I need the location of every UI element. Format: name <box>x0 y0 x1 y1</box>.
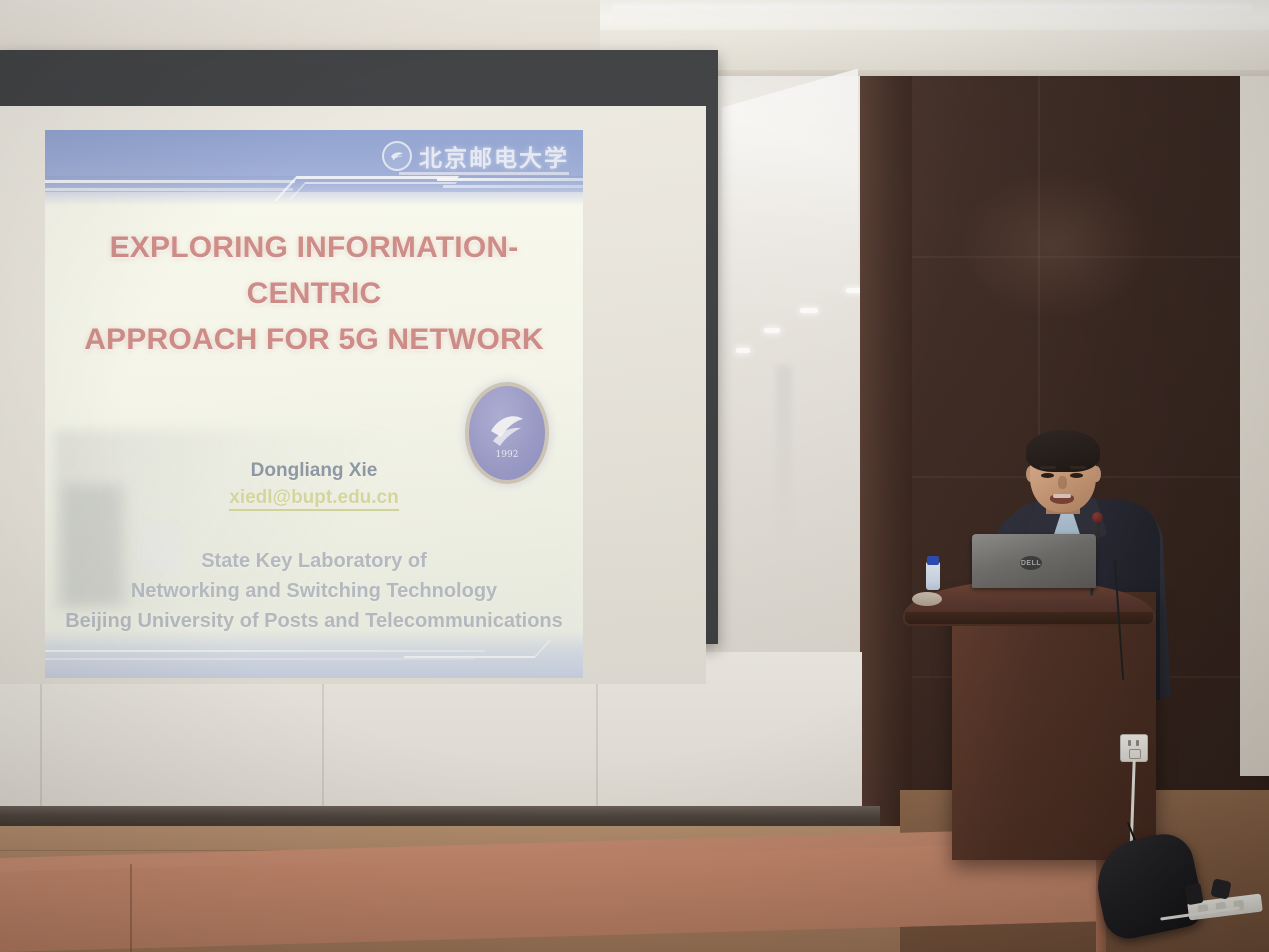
cove-light <box>612 4 1252 20</box>
svg-text:1992: 1992 <box>496 450 519 460</box>
bupt-emblem-icon <box>382 141 412 171</box>
presenter-nose <box>1058 476 1067 489</box>
wall-sheen <box>722 69 858 328</box>
presenter-eye-left <box>1041 473 1054 478</box>
wood-light-glow <box>960 170 1150 320</box>
bupt-wordmark: 北京邮电大学 <box>382 138 569 174</box>
podium-emblem <box>912 592 942 606</box>
dell-logo-icon: DELL <box>1020 556 1042 570</box>
header-deco-line-1 <box>45 180 295 183</box>
podium-body <box>952 592 1156 860</box>
plug-1 <box>1184 883 1203 905</box>
header-step-motif-2 <box>289 182 457 200</box>
header-deco-line-2 <box>45 188 293 191</box>
wall-vertical-reflection <box>776 366 792 546</box>
glossy-wall-panel <box>718 76 860 682</box>
socket-slot-1 <box>1128 740 1131 746</box>
socket-outline <box>1129 749 1141 759</box>
podium-front-lip <box>905 612 1153 624</box>
footer-deco-line-2 <box>45 658 475 660</box>
presenter-brow-right <box>1070 466 1086 469</box>
water-bottle <box>926 562 940 590</box>
downlight-reflection-3 <box>800 308 818 313</box>
presentation-photo: 北京邮电大学 EXPLORING INFORMATION-CENTRIC APP… <box>0 0 1269 952</box>
presenter-hair <box>1026 430 1100 472</box>
microphone-head-icon <box>1092 512 1103 523</box>
slide-title: EXPLORING INFORMATION-CENTRIC APPROACH F… <box>45 225 583 363</box>
downlight-reflection-1 <box>736 348 750 353</box>
water-bottle-cap <box>927 556 939 565</box>
speaker-email-text: xiedl@bupt.edu.cn <box>229 487 398 511</box>
plug-2 <box>1210 878 1231 899</box>
slide-title-line-1: EXPLORING INFORMATION-CENTRIC <box>45 225 583 317</box>
presenter-eye-right <box>1070 473 1083 478</box>
bupt-underline <box>399 172 569 175</box>
downlight-reflection-2 <box>764 328 780 333</box>
presenter-teeth <box>1053 494 1071 498</box>
stage-seam <box>130 864 132 952</box>
projection-screen-frame: 北京邮电大学 EXPLORING INFORMATION-CENTRIC APP… <box>0 50 718 644</box>
wall-socket <box>1120 734 1148 762</box>
affiliation-line-2: Networking and Switching Technology <box>45 576 583 606</box>
wood-corner-column <box>860 76 912 876</box>
speaker-email: xiedl@bupt.edu.cn <box>45 487 583 509</box>
projected-slide: 北京邮电大学 EXPLORING INFORMATION-CENTRIC APP… <box>45 130 583 678</box>
header-deco-line-3 <box>437 178 583 181</box>
socket-slot-2 <box>1136 740 1139 746</box>
right-wall-strip <box>1240 76 1269 776</box>
header-deco-line-4 <box>443 185 583 188</box>
presenter-brow-left <box>1040 466 1056 469</box>
bupt-chinese-name: 北京邮电大学 <box>419 139 569 173</box>
affiliation-line-1: State Key Laboratory of <box>45 546 583 576</box>
speaker-name: Dongliang Xie <box>45 460 583 482</box>
affiliation-block: State Key Laboratory of Networking and S… <box>45 546 583 636</box>
footer-step-motif <box>403 640 551 658</box>
slide-title-line-2: APPROACH FOR 5G NETWORK <box>45 317 583 363</box>
